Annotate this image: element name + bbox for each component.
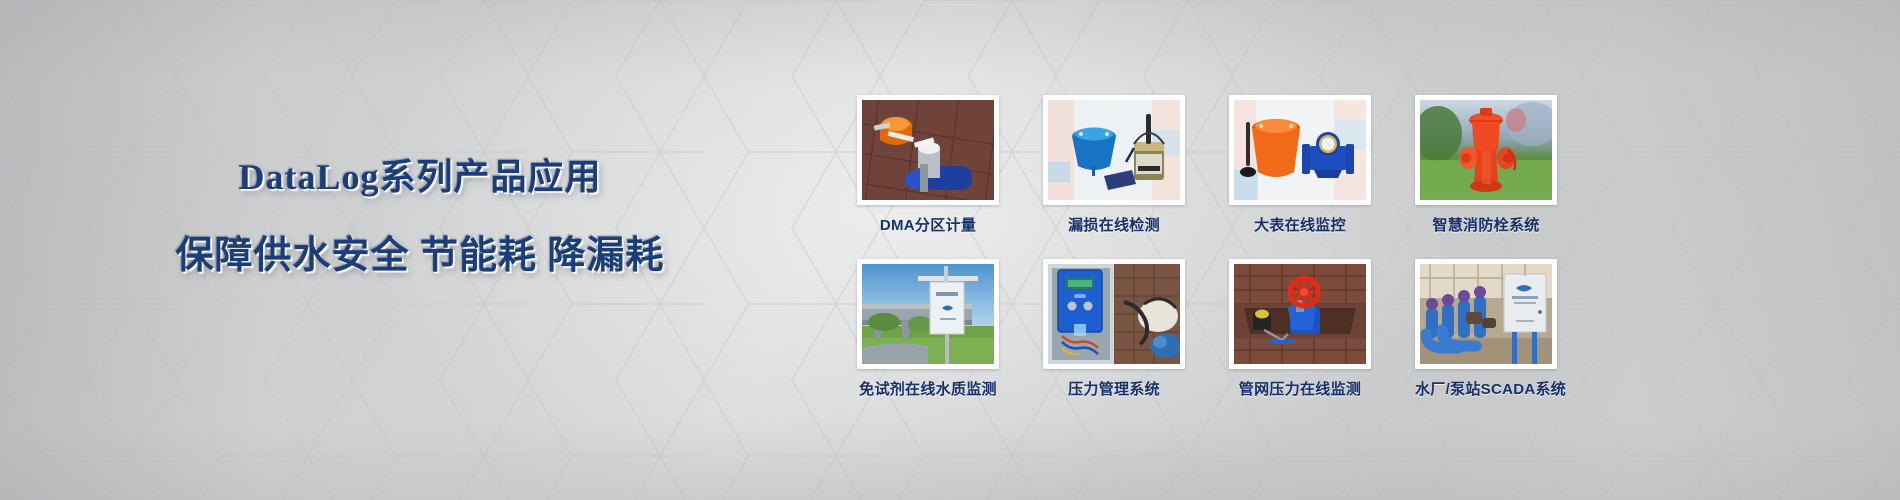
product-card-label: DMA分区计量 [857,214,999,235]
card-frame [1043,95,1185,205]
card-frame [857,259,999,369]
pipe-pressure-photo [1234,264,1366,364]
product-card[interactable]: DMA分区计量 [857,95,999,235]
product-card-grid: DMA分区计量 [857,95,1557,399]
product-card[interactable]: 管网压力在线监测 [1229,259,1371,399]
product-card[interactable]: 大表在线监控 [1229,95,1371,235]
card-frame [857,95,999,205]
product-banner: DataLog系列产品应用 保障供水安全 节能耗 降漏耗 [0,0,1900,500]
product-card[interactable]: 免试剂在线水质监测 [857,259,999,399]
pressure-management-photo [1048,264,1180,364]
card-frame [1043,259,1185,369]
headline-line-2: 保障供水安全 节能耗 降漏耗 [0,224,840,279]
card-frame [1229,95,1371,205]
leak-detection-photo [1048,100,1180,200]
product-card-label: 漏损在线检测 [1043,214,1185,235]
product-card-label: 智慧消防栓系统 [1415,214,1557,235]
product-card[interactable]: 压力管理系统 [1043,259,1185,399]
scada-system-photo [1420,264,1552,364]
headline-line-1: DataLog系列产品应用 [0,148,840,200]
headline-block: DataLog系列产品应用 保障供水安全 节能耗 降漏耗 [0,148,840,279]
product-card[interactable]: 智慧消防栓系统 [1415,95,1557,235]
product-card-label: 免试剂在线水质监测 [857,378,999,399]
dma-metering-photo [862,100,994,200]
large-meter-photo [1234,100,1366,200]
product-card-label: 水厂/泵站SCADA系统 [1415,378,1557,399]
product-card[interactable]: 漏损在线检测 [1043,95,1185,235]
product-card-label: 大表在线监控 [1229,214,1371,235]
water-quality-photo [862,264,994,364]
product-card-label: 管网压力在线监测 [1229,378,1371,399]
card-frame [1229,259,1371,369]
smart-hydrant-photo [1420,100,1552,200]
card-frame [1415,259,1557,369]
card-frame [1415,95,1557,205]
product-card-label: 压力管理系统 [1043,378,1185,399]
product-card[interactable]: 水厂/泵站SCADA系统 [1415,259,1557,399]
